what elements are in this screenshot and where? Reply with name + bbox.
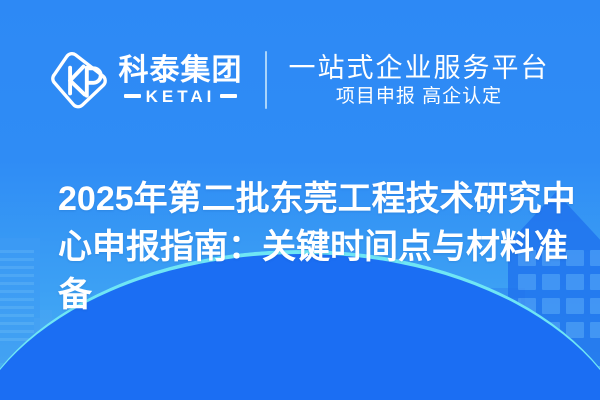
brand-logo[interactable]: 科泰集团 KETAI [51, 51, 265, 109]
banner-header: 科泰集团 KETAI 一站式企业服务平台 项目申报 高企认定 [0, 38, 600, 122]
page-title: 2025年第二批东莞工程技术研究中心申报指南：关键时间点与材料准备 [58, 175, 578, 320]
kp-diamond-monogram-icon [51, 51, 107, 109]
promo-banner: 科泰集团 KETAI 一站式企业服务平台 项目申报 高企认定 2025年第二批东… [0, 0, 600, 400]
brand-name-en: KETAI [146, 88, 216, 105]
dash-right-icon [220, 94, 237, 98]
dash-left-icon [124, 94, 141, 98]
brand-name-en-row: KETAI [119, 88, 243, 105]
brand-wordmark: 科泰集团 KETAI [119, 56, 243, 105]
tagline-sub: 项目申报 高企认定 [289, 87, 550, 106]
tagline-main: 一站式企业服务平台 [289, 55, 550, 82]
brand-tagline: 一站式企业服务平台 项目申报 高企认定 [267, 55, 550, 106]
brand-name-cn: 科泰集团 [119, 56, 243, 86]
